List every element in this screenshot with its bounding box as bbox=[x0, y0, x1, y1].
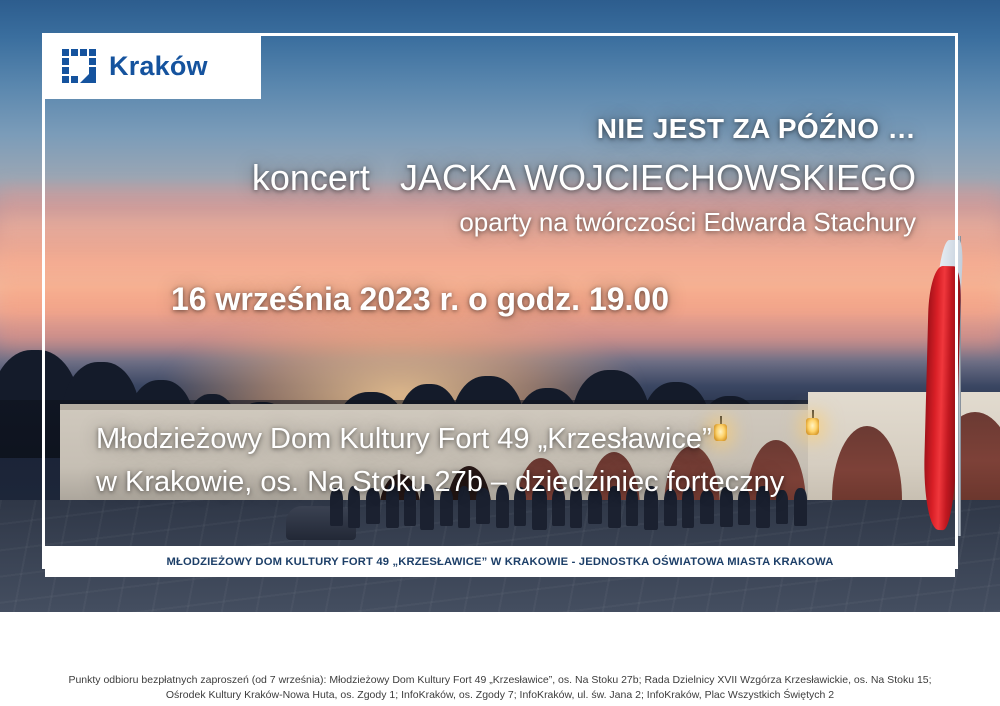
venue-line-1: Młodzieżowy Dom Kultury Fort 49 „Krzesła… bbox=[96, 423, 712, 456]
event-datetime: 16 września 2023 r. o godz. 19.00 bbox=[0, 281, 1000, 318]
pickup-points-footer: Punkty odbioru bezpłatnych zaproszeń (od… bbox=[0, 673, 1000, 706]
concert-prefix: koncert bbox=[252, 157, 370, 198]
venue-line-2: w Krakowie, os. Na Stoku 27b – dziedzini… bbox=[96, 466, 784, 499]
concert-line: koncert JACKA WOJCIECHOWSKIEGO bbox=[252, 157, 916, 199]
subtitle: oparty na twórczości Edwarda Stachury bbox=[459, 207, 916, 238]
tagline: NIE JEST ZA PÓŹNO … bbox=[597, 113, 916, 145]
footer-line-2: Ośrodek Kultury Kraków-Nowa Huta, os. Zg… bbox=[0, 688, 1000, 703]
krakow-grid-icon bbox=[62, 49, 96, 83]
institution-banner-text: MŁODZIEŻOWY DOM KULTURY FORT 49 „KRZESŁA… bbox=[166, 556, 833, 568]
footer-line-1: Punkty odbioru bezpłatnych zaproszeń (od… bbox=[0, 673, 1000, 688]
artist-name: JACKA WOJCIECHOWSKIEGO bbox=[400, 157, 916, 198]
event-poster: Kraków NIE JEST ZA PÓŹNO … koncert JACKA… bbox=[0, 0, 1000, 706]
sponsor-strip: Organizatorzy: Współpraca: Patronat medi… bbox=[0, 612, 1000, 674]
krakow-logo: Kraków bbox=[42, 33, 261, 99]
institution-banner: MŁODZIEŻOWY DOM KULTURY FORT 49 „KRZESŁA… bbox=[45, 546, 955, 577]
krakow-logo-text: Kraków bbox=[109, 53, 208, 80]
